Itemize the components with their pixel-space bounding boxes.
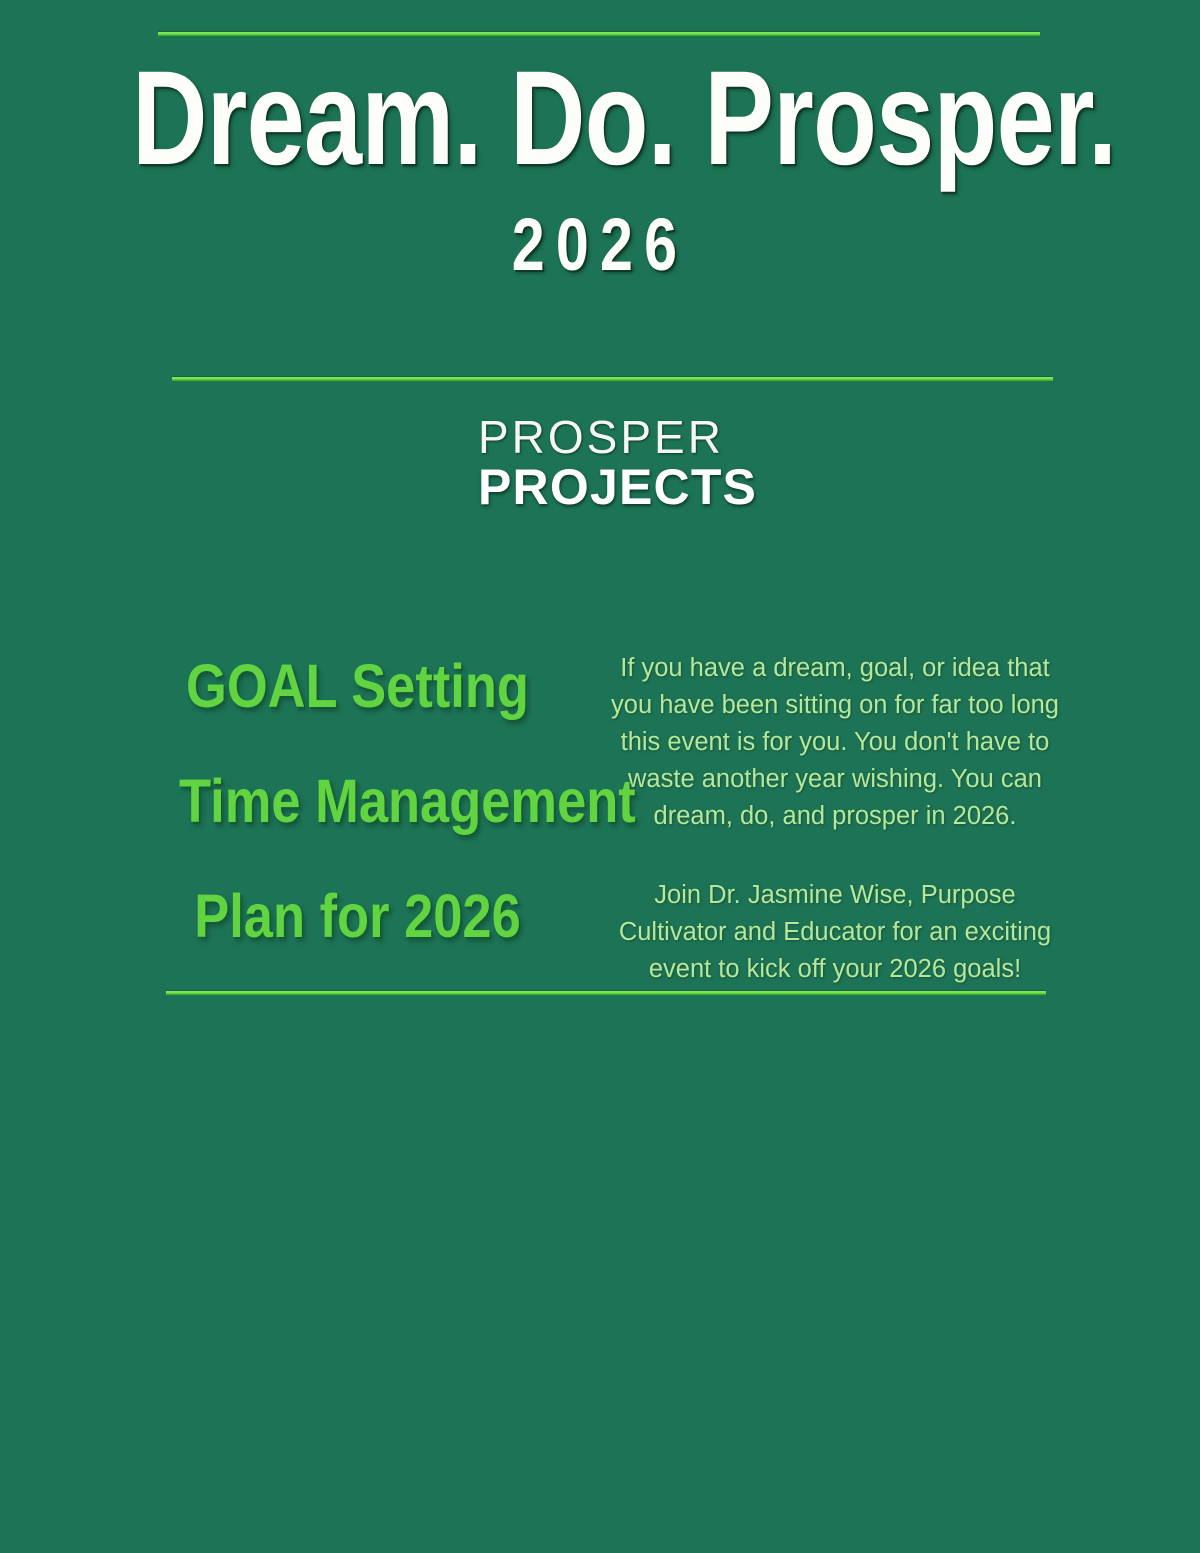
description-paragraph-1: If you have a dream, goal, or idea that … (605, 650, 1065, 835)
event-flyer: Dream. Do. Prosper. 2026 PROSPER PROJECT… (0, 0, 1200, 1553)
brand-logo-line-2: PROJECTS (478, 462, 757, 512)
topics-column: GOAL Setting Time Management Plan for 20… (150, 650, 565, 947)
content-columns: GOAL Setting Time Management Plan for 20… (150, 650, 1065, 988)
event-year: 2026 (120, 208, 1080, 282)
topic-item-time-management: Time Management (179, 771, 536, 832)
divider-rule-top (158, 31, 1040, 37)
description-column: If you have a dream, goal, or idea that … (605, 650, 1065, 988)
divider-rule-bottom (166, 990, 1046, 996)
brand-logo: PROSPER PROJECTS (478, 414, 757, 512)
page-title: Dream. Do. Prosper. (132, 52, 1068, 186)
description-paragraph-2: Join Dr. Jasmine Wise, Purpose Cultivato… (605, 877, 1065, 988)
topic-item-plan-for-2026: Plan for 2026 (179, 886, 536, 947)
brand-logo-line-1: PROSPER (478, 414, 757, 460)
title-block: Dream. Do. Prosper. 2026 (0, 52, 1200, 282)
topic-item-goal-setting: GOAL Setting (179, 656, 536, 717)
divider-rule-middle (172, 376, 1053, 382)
